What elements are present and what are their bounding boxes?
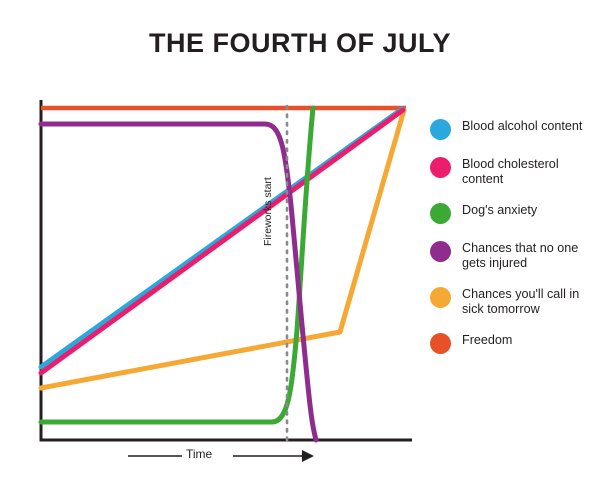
- time-arrowhead-icon: [302, 450, 314, 462]
- legend-swatch-circle-icon: [430, 203, 451, 224]
- legend-item-blood-alcohol[interactable]: Blood alcohol content: [430, 118, 600, 140]
- legend-item-blood-cholesterol[interactable]: Blood cholesterol content: [430, 156, 600, 186]
- legend-item-label: Blood cholesterol content: [462, 156, 600, 186]
- legend-item-label: Freedom: [462, 332, 512, 348]
- chart-svg: [0, 0, 430, 500]
- x-axis-label: Time: [186, 447, 212, 461]
- legend-item-label: Chances that no one gets injured: [462, 240, 600, 270]
- series-line-dogs-anxiety: [41, 108, 313, 422]
- plot-area: Fireworks start Time: [0, 0, 430, 500]
- chart-page: THE FOURTH OF JULY Firewo: [0, 0, 600, 500]
- legend-swatch-circle-icon: [430, 119, 451, 140]
- legend-item-label: Chances you'll call in sick tomorrow: [462, 286, 600, 316]
- legend-item-call-in-sick[interactable]: Chances you'll call in sick tomorrow: [430, 286, 600, 316]
- fireworks-start-label: Fireworks start: [262, 177, 274, 246]
- legend-swatch-circle-icon: [430, 333, 451, 354]
- legend-swatch-circle-icon: [430, 241, 451, 262]
- legend-item-dogs-anxiety[interactable]: Dog's anxiety: [430, 202, 600, 224]
- chart-legend: Blood alcohol content Blood cholesterol …: [430, 118, 600, 370]
- legend-swatch-circle-icon: [430, 157, 451, 178]
- series-line-no-one-injured: [41, 124, 316, 440]
- legend-item-no-one-injured[interactable]: Chances that no one gets injured: [430, 240, 600, 270]
- series-line-blood-cholesterol: [41, 110, 403, 373]
- legend-item-label: Dog's anxiety: [462, 202, 537, 218]
- legend-swatch-circle-icon: [430, 287, 451, 308]
- legend-item-freedom[interactable]: Freedom: [430, 332, 600, 354]
- legend-item-label: Blood alcohol content: [462, 118, 582, 134]
